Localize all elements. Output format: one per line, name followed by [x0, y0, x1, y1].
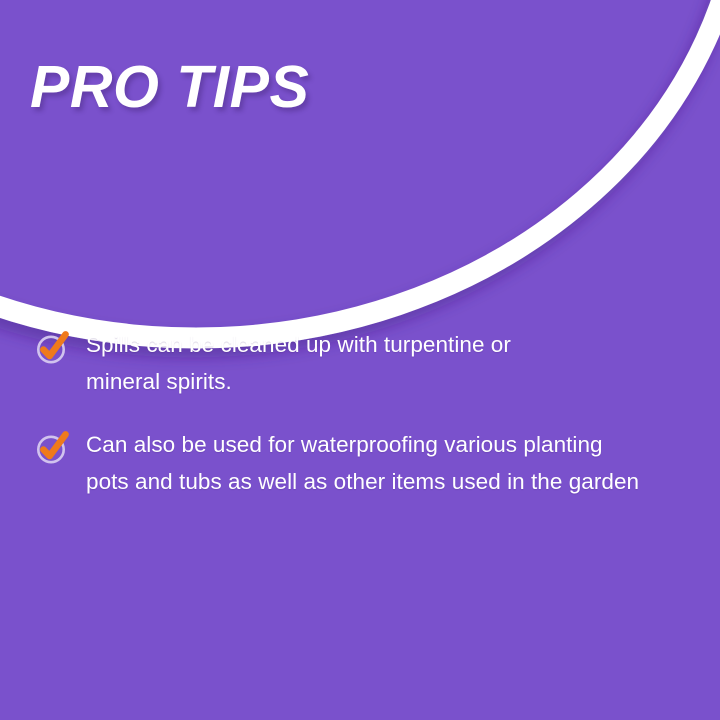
tips-list: Spills can be cleaned up with turpentine… [36, 326, 696, 500]
list-item-line: Spills can be cleaned up with turpentine… [86, 326, 696, 363]
list-item-line: pots and tubs as well as other items use… [86, 463, 696, 500]
page-title-wrap: PRO TIPS [30, 52, 550, 122]
list-item-line: mineral spirits. [86, 363, 696, 400]
orange-check-circle-icon [36, 431, 74, 465]
orange-check-circle-icon [36, 331, 74, 365]
list-item: Can also be used for waterproofing vario… [36, 426, 696, 500]
list-item: Spills can be cleaned up with turpentine… [36, 326, 696, 400]
list-item-line: Can also be used for waterproofing vario… [86, 426, 696, 463]
page-title: PRO TIPS [30, 52, 550, 122]
list-item-text: Spills can be cleaned up with turpentine… [86, 326, 696, 400]
pro-tips-card: PRO TIPS Spills can be cleaned up with t… [0, 0, 720, 720]
list-item-text: Can also be used for waterproofing vario… [86, 426, 696, 500]
